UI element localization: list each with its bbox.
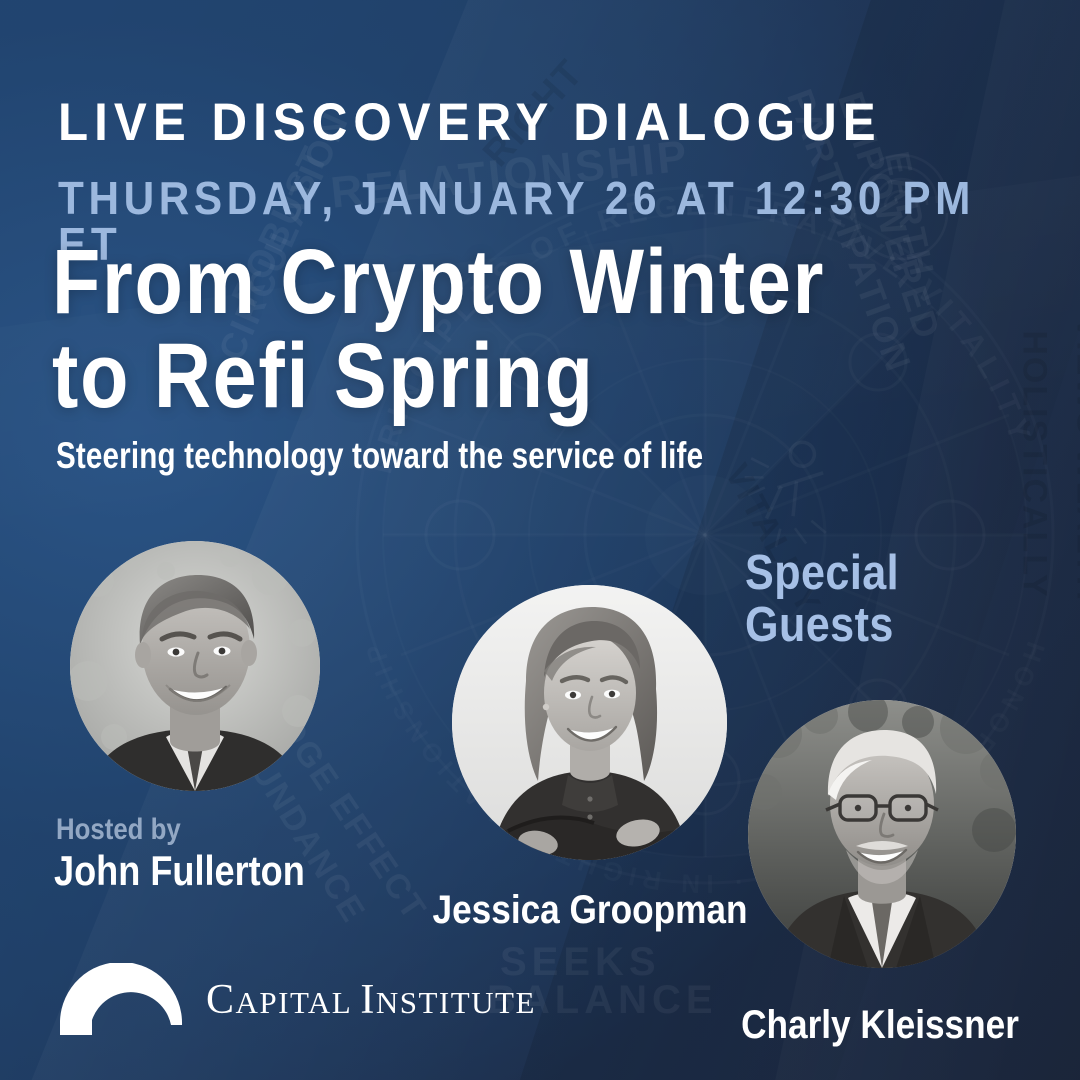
- page-title: From Crypto Winter to Refi Spring: [52, 236, 825, 424]
- capital-institute-logo: CAPITAL INSTITUTE: [58, 963, 536, 1037]
- event-poster: PRINCIPLES OF REGENERATIVE VITALITY HONO…: [0, 0, 1080, 1080]
- logo-word-capital-rest: APITAL: [236, 985, 361, 1020]
- host-name: John Fullerton: [54, 850, 305, 892]
- special-guests-heading: Special Guests: [745, 548, 899, 652]
- guest-name-2: Charly Kleissner: [713, 1005, 1047, 1045]
- title-line-2: to Refi Spring: [52, 330, 825, 424]
- watermark-holistically: Holistically: [1015, 330, 1054, 598]
- logo-word-institute-initial: I: [360, 977, 376, 1023]
- logo-wordmark: CAPITAL INSTITUTE: [206, 979, 536, 1021]
- logo-word-institute-rest: NSTITUTE: [376, 985, 536, 1020]
- watermark-views-wealth: Views Wealth: [1068, 317, 1080, 603]
- event-subtitle: Steering technology toward the service o…: [56, 437, 703, 474]
- host-label: Hosted by: [56, 815, 181, 845]
- special-guests-line-1: Special: [745, 546, 899, 600]
- avatar-host-john-fullerton: [70, 541, 320, 791]
- event-kicker: LIVE DISCOVERY DIALOGUE: [58, 96, 882, 149]
- avatar-guest-charly-kleissner: [748, 700, 1016, 968]
- logo-word-capital-initial: C: [206, 977, 236, 1023]
- special-guests-line-2: Guests: [745, 598, 894, 652]
- title-line-1: From Crypto Winter: [52, 231, 825, 333]
- avatar-guest-jessica-groopman: [452, 585, 727, 860]
- guest-name-1: Jessica Groopman: [423, 890, 757, 930]
- arch-logo-icon: [58, 963, 184, 1037]
